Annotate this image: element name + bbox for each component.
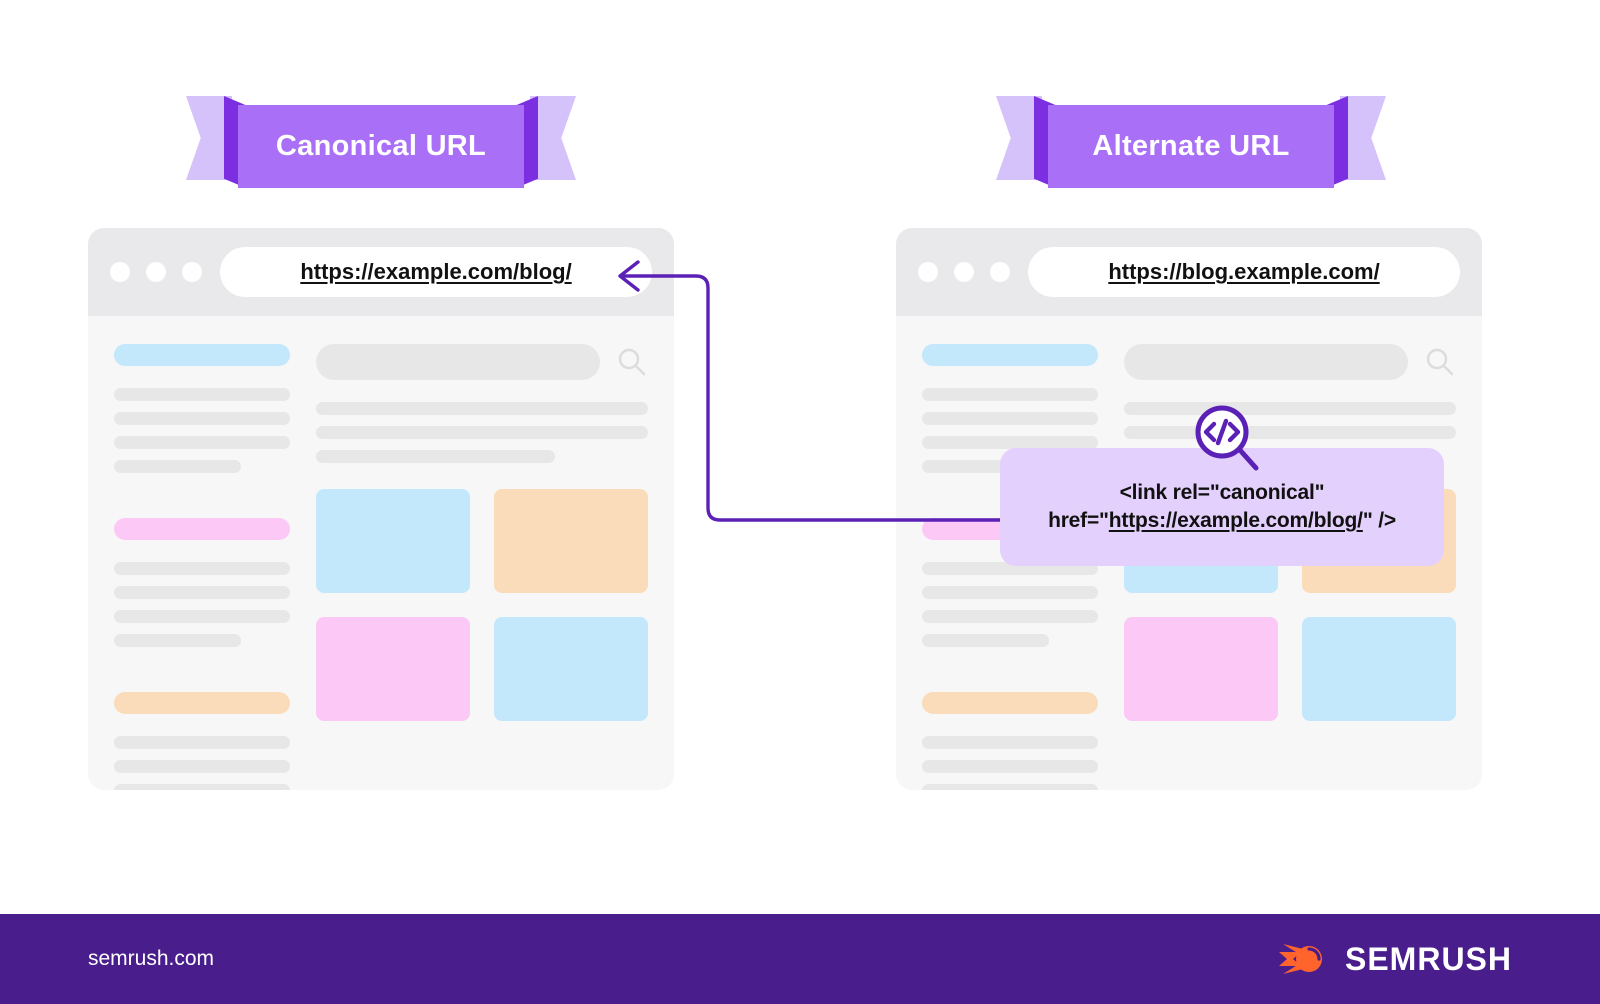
window-controls [110, 262, 202, 282]
spacer [922, 658, 1098, 692]
search-icon[interactable] [616, 346, 648, 378]
code-magnifier-icon [1192, 402, 1264, 474]
text-line [316, 450, 555, 463]
tile-grid [316, 489, 648, 721]
accent-heading-blue [922, 344, 1098, 366]
text-line [114, 412, 290, 425]
content-tile [494, 489, 648, 593]
text-line [922, 760, 1098, 773]
content-tile [1124, 617, 1278, 721]
page-search-input[interactable] [1124, 344, 1408, 380]
text-line [114, 586, 290, 599]
text-line [114, 460, 241, 473]
window-dot-close[interactable] [110, 262, 130, 282]
text-line [922, 736, 1098, 749]
page-search-row [316, 344, 648, 380]
text-line [114, 562, 290, 575]
content-tile [1302, 617, 1456, 721]
ribbon-band: Alternate URL [1048, 105, 1334, 188]
accent-heading-peach [922, 692, 1098, 714]
code-href-url: https://example.com/blog/ [1109, 509, 1363, 532]
content-column-left [114, 344, 290, 790]
page-content-canonical [88, 316, 674, 790]
text-line [922, 412, 1098, 425]
address-bar-url: https://example.com/blog/ [300, 259, 571, 285]
text-line [1124, 402, 1456, 415]
window-dot-maximize[interactable] [182, 262, 202, 282]
address-bar-canonical[interactable]: https://example.com/blog/ [220, 247, 652, 297]
text-line [922, 784, 1098, 790]
accent-heading-peach [114, 692, 290, 714]
content-column-right [316, 344, 648, 790]
window-dot-minimize[interactable] [146, 262, 166, 282]
code-line-2: href="https://example.com/blog/" /> [1048, 509, 1396, 533]
text-line [114, 388, 290, 401]
content-column-right [1124, 344, 1456, 790]
semrush-brand: SEMRUSH [1277, 938, 1512, 980]
text-line [316, 402, 648, 415]
text-line [114, 736, 290, 749]
address-bar-url: https://blog.example.com/ [1108, 259, 1379, 285]
text-line [922, 388, 1098, 401]
browser-chrome: https://blog.example.com/ [896, 228, 1482, 316]
banner-alternate-url: Alternate URL [996, 88, 1386, 188]
text-line [922, 610, 1098, 623]
window-dot-maximize[interactable] [990, 262, 1010, 282]
text-line [922, 586, 1098, 599]
banner-canonical-label: Canonical URL [276, 130, 486, 163]
text-line [1124, 426, 1456, 439]
text-line [316, 426, 648, 439]
content-tile [494, 617, 648, 721]
text-line [114, 436, 290, 449]
text-line [114, 634, 241, 647]
page-footer: semrush.com SEMRUSH [0, 914, 1600, 1004]
code-href-suffix: " /> [1363, 509, 1396, 532]
illustration-stage: Canonical URL Alternate URL https://exam… [0, 0, 1600, 1004]
content-column-left [922, 344, 1098, 790]
window-dot-close[interactable] [918, 262, 938, 282]
browser-window-canonical: https://example.com/blog/ [88, 228, 674, 790]
accent-heading-blue [114, 344, 290, 366]
address-bar-alternate[interactable]: https://blog.example.com/ [1028, 247, 1460, 297]
semrush-wordmark: SEMRUSH [1345, 941, 1512, 978]
page-search-input[interactable] [316, 344, 600, 380]
semrush-comet-logo [1277, 938, 1329, 980]
content-tile [316, 617, 470, 721]
spacer [114, 658, 290, 692]
browser-chrome: https://example.com/blog/ [88, 228, 674, 316]
text-line [922, 634, 1049, 647]
text-line [114, 784, 290, 790]
search-icon[interactable] [1424, 346, 1456, 378]
banner-alternate-label: Alternate URL [1092, 130, 1289, 163]
window-dot-minimize[interactable] [954, 262, 974, 282]
code-href-prefix: href=" [1048, 509, 1109, 532]
footer-website-url: semrush.com [88, 947, 214, 971]
banner-canonical-url: Canonical URL [186, 88, 576, 188]
code-line-1: <link rel="canonical" [1120, 481, 1325, 505]
spacer [114, 484, 290, 518]
ribbon-band: Canonical URL [238, 105, 524, 188]
accent-heading-pink [114, 518, 290, 540]
content-tile [316, 489, 470, 593]
page-search-row [1124, 344, 1456, 380]
text-line [114, 610, 290, 623]
text-line [114, 760, 290, 773]
window-controls [918, 262, 1010, 282]
